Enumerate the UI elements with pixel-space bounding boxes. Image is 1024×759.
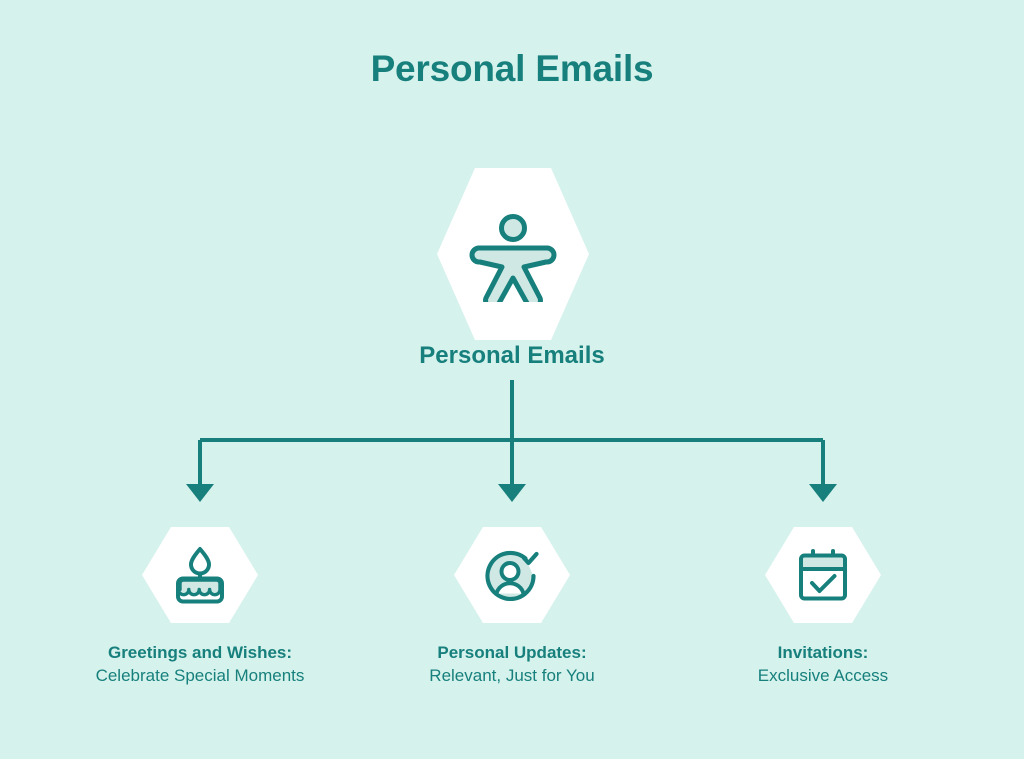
branch-node-hexagon-greetings[interactable] [142,527,258,623]
branch-label-lead: Greetings and Wishes: [60,641,340,664]
branch-node-hexagon-updates[interactable] [454,527,570,623]
branch-label-desc: Exclusive Access [683,664,963,687]
connector-arrows [0,380,1024,510]
root-node-hexagon[interactable] [437,168,589,340]
diagram-canvas: Personal Emails Personal Emails [0,0,1024,759]
branch-label-invitations: Invitations: Exclusive Access [683,641,963,687]
branch-label-greetings: Greetings and Wishes: Celebrate Special … [60,641,340,687]
branch-label-lead: Personal Updates: [372,641,652,664]
root-node-label: Personal Emails [312,342,712,370]
branch-label-desc: Celebrate Special Moments [60,664,340,687]
page-title: Personal Emails [0,48,1024,90]
user-check-icon [481,544,543,606]
calendar-check-icon [792,544,854,606]
branch-label-lead: Invitations: [683,641,963,664]
person-accessibility-icon [465,206,561,302]
branch-node-hexagon-invitations[interactable] [765,527,881,623]
branch-label-updates: Personal Updates: Relevant, Just for You [372,641,652,687]
branch-label-desc: Relevant, Just for You [372,664,652,687]
birthday-cake-icon [169,544,231,606]
